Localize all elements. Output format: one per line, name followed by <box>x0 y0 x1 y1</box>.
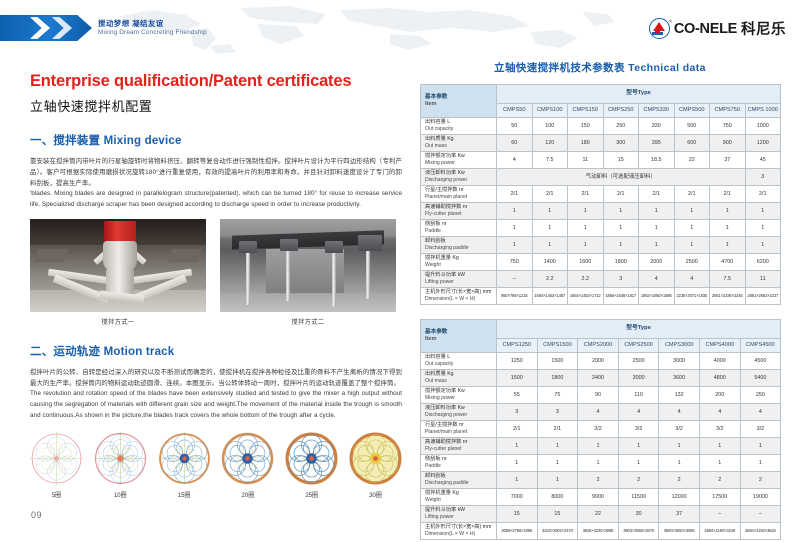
table-cell: 500 <box>674 118 710 135</box>
model-header-cell: CMPS330 <box>639 104 675 118</box>
table-cell: 4594×4150×3249 <box>699 523 740 540</box>
table-cell: 1 <box>699 455 740 472</box>
table-cell: 750 <box>710 118 746 135</box>
right-column: 立轴快速搅拌机技术参数表 Technical data 基本参数Item型号Ty… <box>420 60 780 540</box>
table-cell: 2500 <box>618 353 659 370</box>
row-label-cell: 高速辅助搅拌数 nrFly-cutter planet <box>421 203 497 220</box>
motion-track-label: 20圈 <box>221 490 274 499</box>
table-cell: 75 <box>537 387 578 404</box>
row-label-cell: 侧刮板 nrPaddle <box>421 455 497 472</box>
page-header: 搅动梦想 凝结友谊 Mixing Dream Concreting Friend… <box>0 0 800 56</box>
model-header-cell: CMPS3000 <box>659 339 700 353</box>
row-label-cell: 出料容量 LOut capacity <box>421 353 497 370</box>
table-cell: 1 <box>745 203 781 220</box>
table-cell: 1856×1648×1817 <box>603 288 639 305</box>
table-cell: 30 <box>618 506 659 523</box>
table-cell: 4 <box>618 404 659 421</box>
table-cell: 1 <box>639 203 675 220</box>
header-type-cell: 型号Type <box>497 320 781 339</box>
photo-item: 搅拌方式二 <box>220 219 396 326</box>
technical-data-table-2: 基本参数Item型号TypeCMPS1250CMPS1500CMPS2000CM… <box>420 319 781 540</box>
table-header-row: 基本参数Item型号Type <box>421 320 781 339</box>
model-header-cell: CMPS 1000 <box>745 104 781 118</box>
table-cell: 1 <box>740 455 781 472</box>
section-body-en: The revolution and rotation speed of the… <box>30 389 402 421</box>
table-cell: 17500 <box>699 489 740 506</box>
table-cell: 1 <box>537 472 578 489</box>
motion-track-label: 25圈 <box>285 490 338 499</box>
table-cell: 1 <box>603 203 639 220</box>
table-cell: 250 <box>740 387 781 404</box>
photo-caption: 搅拌方式一 <box>30 317 206 326</box>
table-cell: 19000 <box>740 489 781 506</box>
row-label-cell: 出料质量 KgOut mass <box>421 135 497 152</box>
table-cell: 4800 <box>699 370 740 387</box>
table-row: 搅拌机重量 KgWeight75014001600180020002500470… <box>421 254 781 271</box>
section-heading: 一、搅拌装置 Mixing device <box>30 132 402 148</box>
table-header-row: 基本参数Item型号Type <box>421 85 781 104</box>
motion-track-row: 5圈 <box>30 432 402 499</box>
table-cell: 1200 <box>745 135 781 152</box>
table-cell: 1 <box>578 455 619 472</box>
table-cell: 2000 <box>578 353 619 370</box>
table-cell: 1 <box>710 220 746 237</box>
table-cell: 2/1 <box>603 186 639 203</box>
row-label-cell: 搅拌机重量 KgWeight <box>421 254 497 271</box>
table-cell: 55 <box>497 387 538 404</box>
table-cell: 110 <box>618 387 659 404</box>
table-cell: 2235×2071×1935 <box>674 288 710 305</box>
table-cell: 1 <box>674 203 710 220</box>
table-cell: 1 <box>537 438 578 455</box>
table-cell: 1 <box>497 472 538 489</box>
table-row: 出料容量 LOut capacity5010015025033050075010… <box>421 118 781 135</box>
section-heading: 二、运动轨迹 Motion track <box>30 343 402 359</box>
model-header-cell: CMPS2500 <box>618 339 659 353</box>
brand-name-cn: 科尼乐 <box>741 18 786 39</box>
table-row: 卸料刮板Discharging paddle11111111 <box>421 237 781 254</box>
table-row: 液压卸料功率 KwDischarging power3344444 <box>421 404 781 421</box>
table-cell: 9000 <box>578 489 619 506</box>
model-header-cell: CMPS100 <box>532 104 568 118</box>
table-cell: 300 <box>603 135 639 152</box>
table-row: 卸料刮板Discharging paddle1122222 <box>421 472 781 489</box>
table-cell: 1800 <box>537 370 578 387</box>
table-cell: 1 <box>568 203 604 220</box>
table-cell: 4700 <box>710 254 746 271</box>
motion-track-diagram-icon <box>349 432 402 485</box>
table-cell: 90 <box>578 387 619 404</box>
table-cell: 3058×2756×2395 <box>497 523 538 540</box>
row-label-cell: 液压卸料功率 KwDischarging power <box>421 169 497 186</box>
table-cell: 2 <box>740 472 781 489</box>
co-nele-mark-icon <box>649 18 670 39</box>
left-column: Enterprise qualification/Patent certific… <box>30 72 402 499</box>
table-row: 侧刮板 nrPaddle11111111 <box>421 220 781 237</box>
motion-track-item: 20圈 <box>221 432 274 499</box>
row-label-cell: 主机外形尺寸(长×宽×高) mmDimension(L × W × H) <box>421 288 497 305</box>
model-header-cell: CMPS750 <box>710 104 746 118</box>
table-cell: 2.2 <box>532 271 568 288</box>
table-row: 搅拌额定功率 KwMixing power557590110132200250 <box>421 387 781 404</box>
table-cell: 1500 <box>537 353 578 370</box>
table-cell: 3000 <box>618 370 659 387</box>
table-cell: 395 <box>639 135 675 152</box>
table-cell: 2/1 <box>568 186 604 203</box>
table-cell: 1 <box>603 237 639 254</box>
table-cell: 750 <box>497 254 533 271</box>
table-cell: 1250 <box>497 353 538 370</box>
table-row: 高速辅助搅拌数 nrFly-cutter planet11111111 <box>421 203 781 220</box>
table-cell: 1 <box>497 220 533 237</box>
row-label-cell: 主机外形尺寸(长×宽×高) mmDimension(L × W × H) <box>421 523 497 540</box>
table-cell: 1 <box>532 203 568 220</box>
section-motion-track: 二、运动轨迹 Motion track 搅拌叶片的公转、自转是经过深入的研究以及… <box>30 343 402 499</box>
table-cell: 3625×3230×2695 <box>578 523 619 540</box>
table-cell: 8000 <box>537 489 578 506</box>
page-title-cn: 立轴快速搅拌机配置 <box>30 96 402 115</box>
motion-track-item: 30圈 <box>349 432 402 499</box>
table-cell: 120 <box>532 135 568 152</box>
section-mixing-device: 一、搅拌装置 Mixing device 靠安装在搅拌筒内带叶片的行星轴旋转时将… <box>30 132 402 326</box>
technical-data-table-1: 基本参数Item型号TypeCMPS50CMPS100CMPS150CMPS25… <box>420 84 781 305</box>
table-cell: 1 <box>639 237 675 254</box>
row-label-cell: 侧刮板 nrPaddle <box>421 220 497 237</box>
table-cell: 1 <box>497 438 538 455</box>
table-cell: 2/1 <box>497 186 533 203</box>
section-body-cn: 靠安装在搅拌筒内带叶片的行星轴旋转时将物料挤压、翻转等复合动作进行强制性搅拌。搅… <box>30 156 402 189</box>
row-label-cell: 出料质量 KgOut mass <box>421 370 497 387</box>
table-cell: 1 <box>568 220 604 237</box>
row-label-cell: 行星/主搅拌数 nrPlanet/main planet <box>421 186 497 203</box>
section-body-en: 'blades. Mixing blades are designed in p… <box>30 189 402 210</box>
table-cell: 200 <box>699 387 740 404</box>
photo-item: 搅拌方式一 <box>30 219 206 326</box>
row-label-cell: 搅拌额定功率 KwMixing power <box>421 152 497 169</box>
table-cell: 4 <box>578 404 619 421</box>
table-cell: 5400 <box>740 370 781 387</box>
table-cell: 1862×1850×1886 <box>639 288 675 305</box>
brand-lockup: ® CO-NELE 科尼乐 <box>649 18 786 39</box>
table-row: 主机外形尺寸(长×宽×高) mmDimension(L × W × H)3058… <box>421 523 781 540</box>
row-label-cell: 卸料刮板Discharging paddle <box>421 237 497 254</box>
table-cell: 4 <box>497 152 533 169</box>
table-cell: 7.5 <box>710 271 746 288</box>
table-row: 液压卸料功率 KwDischarging power气动卸料（可选配液压卸料）3 <box>421 169 781 186</box>
table-cell: 3000 <box>659 353 700 370</box>
motion-track-item: 25圈 <box>285 432 338 499</box>
table-cell: 4594×4150×3634 <box>740 523 781 540</box>
model-header-cell: CMPS2000 <box>578 339 619 353</box>
page-title-en: Enterprise qualification/Patent certific… <box>30 72 402 90</box>
table-cell: 15 <box>497 506 538 523</box>
table-row: 侧刮板 nrPaddle1111111 <box>421 455 781 472</box>
table-cell: 45 <box>745 152 781 169</box>
table-row: 提升料斗功率 kWLifting power1515223037–– <box>421 506 781 523</box>
table-cell: 37 <box>710 152 746 169</box>
table-row: 高速辅助搅拌数 nrFly-cutter planet1111111 <box>421 438 781 455</box>
table-cell: 150 <box>568 118 604 135</box>
table-cell: 1 <box>603 220 639 237</box>
motion-track-label: 5圈 <box>30 490 83 499</box>
table-cell: 1 <box>568 237 604 254</box>
table-cell: 11 <box>568 152 604 169</box>
table-cell: 950×786×1215 <box>497 288 533 305</box>
table-cell: 600 <box>674 135 710 152</box>
table-cell: 1 <box>745 220 781 237</box>
table-row: 行星/主搅拌数 nrPlanet/main planet2/12/12/12/1… <box>421 186 781 203</box>
header-item-cell: 基本参数Item <box>421 320 497 353</box>
motion-track-diagram-icon <box>30 432 83 485</box>
table-cell: 3803×3550×2875 <box>618 523 659 540</box>
section-body-cn: 搅拌叶片的公转、自转是经过深入的研究以及不断测试而确定的，使搅拌机在搅拌各种粒径… <box>30 367 402 389</box>
table-cell: – <box>740 506 781 523</box>
model-header-cell: CMPS50 <box>497 104 533 118</box>
table-cell: 1664×1453×1712 <box>568 288 604 305</box>
table-cell: 2000 <box>639 254 675 271</box>
table-cell: 4500 <box>740 353 781 370</box>
table-cell: 22 <box>674 152 710 169</box>
table-cell: 15 <box>537 506 578 523</box>
brochure-page: 搅动梦想 凝结友谊 Mixing Dream Concreting Friend… <box>0 0 800 542</box>
table-cell: 1 <box>532 220 568 237</box>
table-cell: 2561×2336×2245 <box>710 288 746 305</box>
table-cell: 4 <box>639 271 675 288</box>
table-cell: 1 <box>674 220 710 237</box>
table-cell: 3/2 <box>740 421 781 438</box>
table-cell: 2/1 <box>710 186 746 203</box>
row-label-cell: 卸料刮板Discharging paddle <box>421 472 497 489</box>
table-cell: 1 <box>532 237 568 254</box>
table-cell: 11500 <box>618 489 659 506</box>
table-cell: 2/1 <box>532 186 568 203</box>
table-cell: 3/2 <box>578 421 619 438</box>
brand-name-en: CO-NELE <box>674 21 737 37</box>
model-header-cell: CMPS150 <box>568 104 604 118</box>
table-cell: 1500 <box>497 370 538 387</box>
table-cell: 3 <box>603 271 639 288</box>
table-cell: 11 <box>745 271 781 288</box>
table-cell: 900 <box>710 135 746 152</box>
table-cell-merged: 气动卸料（可选配液压卸料） <box>497 169 746 186</box>
model-header-cell: CMPS500 <box>674 104 710 118</box>
photo-caption: 搅拌方式二 <box>220 317 396 326</box>
mixer-shafts-photo <box>220 219 396 312</box>
table-row: 提升料斗功率 kWLifting power–2.22.23447.511 <box>421 271 781 288</box>
table-cell: 3 <box>497 404 538 421</box>
table-cell: 1 <box>578 438 619 455</box>
motion-track-diagram-icon <box>94 432 147 485</box>
table-cell: 37 <box>659 506 700 523</box>
table-cell: 180 <box>568 135 604 152</box>
table-cell: 15 <box>603 152 639 169</box>
model-header-cell: CMPS1500 <box>537 339 578 353</box>
motion-track-diagram-icon <box>158 432 211 485</box>
table-cell: 12000 <box>659 489 700 506</box>
row-label-cell: 搅拌额定功率 KwMixing power <box>421 387 497 404</box>
table-cell: 2/1 <box>674 186 710 203</box>
motion-track-diagram-icon <box>221 432 274 485</box>
table-cell: 1 <box>497 455 538 472</box>
table-cell: 1 <box>674 237 710 254</box>
table-cell: 2400 <box>578 370 619 387</box>
table-cell: – <box>699 506 740 523</box>
table-cell: 2500 <box>674 254 710 271</box>
table-cell: 7.5 <box>532 152 568 169</box>
table-cell: 2 <box>618 472 659 489</box>
table-cell: 3223×2902×2470 <box>537 523 578 540</box>
table-cell: 1 <box>659 455 700 472</box>
table-cell: 3/2 <box>618 421 659 438</box>
row-label-cell: 行星/主搅拌数 nrPlanet/main planet <box>421 421 497 438</box>
row-label-cell: 提升料斗功率 kWLifting power <box>421 506 497 523</box>
table-cell: 4 <box>740 404 781 421</box>
table-cell: 3 <box>537 404 578 421</box>
table-cell: 132 <box>659 387 700 404</box>
table-cell: 2/1 <box>497 421 538 438</box>
table-cell: 1 <box>710 203 746 220</box>
header-slogan-cn: 搅动梦想 凝结友谊 <box>98 18 164 29</box>
table-cell: 1 <box>497 237 533 254</box>
table-cell: – <box>497 271 533 288</box>
registered-mark: ® <box>669 19 672 24</box>
table-cell: 2 <box>578 472 619 489</box>
table-cell: 330 <box>639 118 675 135</box>
motion-track-item: 5圈 <box>30 432 83 499</box>
table-cell: 1 <box>497 203 533 220</box>
motion-track-item: 15圈 <box>158 432 211 499</box>
motion-track-label: 30圈 <box>349 490 402 499</box>
table-row: 搅拌机重量 KgWeight70008000900011500120001750… <box>421 489 781 506</box>
table-cell: 2/1 <box>537 421 578 438</box>
table-cell: 50 <box>497 118 533 135</box>
table-cell: 2 <box>699 472 740 489</box>
mixer-paddle-photo <box>30 219 206 312</box>
table-cell: 250 <box>603 118 639 135</box>
table-row: 出料质量 KgOut mass601201803003956009001200 <box>421 135 781 152</box>
row-label-cell: 提升料斗功率 kWLifting power <box>421 271 497 288</box>
page-number-left: 09 <box>31 510 42 520</box>
table-cell: 1 <box>537 455 578 472</box>
motion-track-label: 10圈 <box>94 490 147 499</box>
photo-row: 搅拌方式一 搅拌方式二 <box>30 219 402 326</box>
table-cell: 1 <box>745 237 781 254</box>
row-label-cell: 液压卸料功率 KwDischarging power <box>421 404 497 421</box>
table-cell: 1000 <box>745 118 781 135</box>
table-cell: 22 <box>578 506 619 523</box>
table-cell: 3/2 <box>659 421 700 438</box>
model-header-cell: CMPS4000 <box>699 339 740 353</box>
table-row: 出料容量 LOut capacity1250150020002500300040… <box>421 353 781 370</box>
table-cell: 6200 <box>745 254 781 271</box>
table-cell: 1 <box>710 237 746 254</box>
row-label-cell: 高速辅助搅拌数 nrFly-cutter planet <box>421 438 497 455</box>
table-cell: 4 <box>674 271 710 288</box>
table-cell: 1 <box>659 438 700 455</box>
table-cell: 2/1 <box>745 186 781 203</box>
table-cell: 100 <box>532 118 568 135</box>
table-row: 行星/主搅拌数 nrPlanet/main planet2/12/13/23/2… <box>421 421 781 438</box>
table-cell: 4 <box>699 404 740 421</box>
table-cell: 1 <box>740 438 781 455</box>
table-cell: 1 <box>699 438 740 455</box>
technical-data-title: 立轴快速搅拌机技术参数表 Technical data <box>420 60 780 75</box>
row-label-cell: 搅拌机重量 KgWeight <box>421 489 497 506</box>
table-cell: 1 <box>618 455 659 472</box>
table-cell: 1800 <box>603 254 639 271</box>
table-cell: 18.5 <box>639 152 675 169</box>
table-cell: 1 <box>639 220 675 237</box>
table-cell: 3/2 <box>699 421 740 438</box>
table-cell: 1 <box>618 438 659 455</box>
motion-track-diagram-icon <box>285 432 338 485</box>
table-row: 主机外形尺寸(长×宽×高) mmDimension(L × W × H)950×… <box>421 288 781 305</box>
table-row: 出料质量 KgOut mass1500180024003000360048005… <box>421 370 781 387</box>
header-item-cell: 基本参数Item <box>421 85 497 118</box>
table-cell: 4 <box>659 404 700 421</box>
table-cell: 7000 <box>497 489 538 506</box>
model-header-cell: CMPS4500 <box>740 339 781 353</box>
chevron-logo-icon <box>0 15 92 41</box>
table-cell: 2.2 <box>568 271 604 288</box>
model-header-cell: CMPS250 <box>603 104 639 118</box>
table-cell: 1600 <box>568 254 604 271</box>
header-type-cell: 型号Type <box>497 85 781 104</box>
table-cell: 4000 <box>699 353 740 370</box>
table-cell: 2/1 <box>639 186 675 203</box>
motion-track-label: 15圈 <box>158 490 211 499</box>
row-label-cell: 出料容量 LOut capacity <box>421 118 497 135</box>
table-row: 搅拌额定功率 KwMixing power47.5111518.5223745 <box>421 152 781 169</box>
table-cell: 1664×1453×1487 <box>532 288 568 305</box>
motion-track-item: 10圈 <box>94 432 147 499</box>
table-cell: 60 <box>497 135 533 152</box>
table-cell: 2 <box>659 472 700 489</box>
table-cell: 2861×2662×2237 <box>745 288 781 305</box>
table-cell: 3600 <box>659 370 700 387</box>
table-cell: 3 <box>745 169 781 186</box>
table-cell: 3800×3550×3085 <box>659 523 700 540</box>
table-cell: 1400 <box>532 254 568 271</box>
model-header-cell: CMPS1250 <box>497 339 538 353</box>
header-slogan-en: Mixing Dream Concreting Friendship <box>98 29 207 36</box>
